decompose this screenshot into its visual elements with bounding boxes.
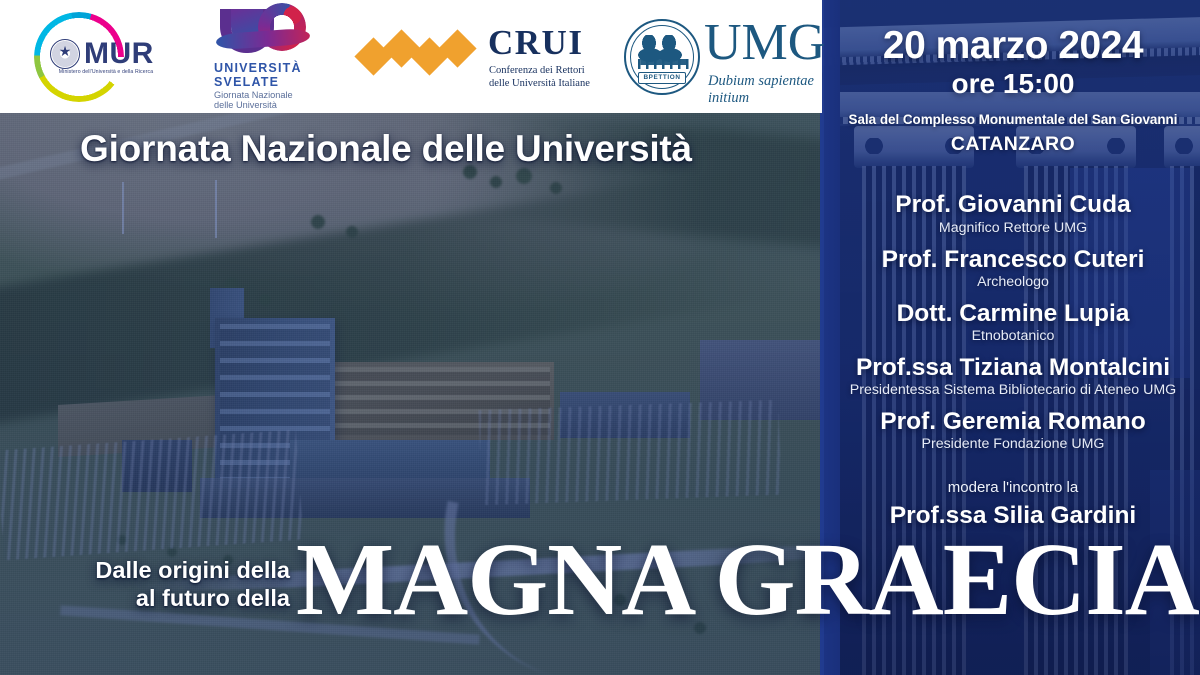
us-monogram-icon — [214, 5, 314, 57]
crui-diamonds-icon — [358, 31, 482, 75]
feature-title: MAGNA GRAECIA — [296, 528, 1199, 632]
us-line1: UNIVERSITÀ — [214, 61, 302, 75]
speaker-name: Prof.ssa Tiziana Montalcini — [842, 353, 1184, 382]
speaker-item: Prof. Giovanni Cuda Magnifico Rettore UM… — [842, 190, 1184, 236]
italian-republic-emblem-icon — [50, 39, 80, 69]
kicker-line-1: Dalle origini della — [22, 557, 290, 585]
speaker-name: Prof. Giovanni Cuda — [842, 190, 1184, 219]
page-title: Giornata Nazionale delle Università — [80, 128, 692, 170]
crui-subtitle-line1: Conferenza dei Rettori — [489, 65, 585, 76]
kicker-line-2: al futuro della — [22, 585, 290, 613]
speakers-list: Prof. Giovanni Cuda Magnifico Rettore UM… — [842, 190, 1184, 453]
moderator-intro: modera l'incontro la — [842, 479, 1184, 496]
us-line2: SVELATE — [214, 75, 279, 89]
logo-header-band: MUR Ministero dell'Università e della Ri… — [0, 0, 822, 113]
umg-seal-text: BPETTION — [638, 72, 686, 84]
speaker-role: Presidente Fondazione UMG — [842, 436, 1184, 453]
event-city: CATANZARO — [842, 133, 1184, 156]
speaker-item: Prof.ssa Tiziana Montalcini Presidentess… — [842, 353, 1184, 399]
speaker-role: Etnobotanico — [842, 328, 1184, 345]
mur-subtitle: Ministero dell'Università e della Ricerc… — [44, 69, 168, 75]
us-line3: Giornata Nazionale — [214, 90, 293, 100]
event-date: 20 marzo 2024 — [842, 26, 1184, 66]
mur-logo: MUR Ministero dell'Università e della Ri… — [22, 9, 172, 105]
speaker-name: Prof. Francesco Cuteri — [842, 245, 1184, 274]
crui-subtitle-line2: delle Università Italiane — [489, 78, 590, 89]
us-line4: delle Università — [214, 100, 277, 110]
umg-acronym: UMG — [704, 17, 825, 69]
speaker-item: Prof. Francesco Cuteri Archeologo — [842, 245, 1184, 291]
speaker-item: Dott. Carmine Lupia Etnobotanico — [842, 299, 1184, 345]
speaker-role: Presidentessa Sistema Bibliotecario di A… — [842, 382, 1184, 399]
event-venue: Sala del Complesso Monumentale del San G… — [842, 112, 1184, 128]
umg-motto: Dubium sapientae initium — [708, 73, 834, 107]
crui-logo: CRUI Conferenza dei Rettori delle Univer… — [358, 17, 590, 97]
crui-acronym: CRUI — [488, 23, 583, 63]
mur-acronym: MUR — [84, 37, 154, 71]
umg-logo: BPETTION UMG Dubium sapientae initium — [624, 15, 834, 99]
event-poster: MUR Ministero dell'Università e della Ri… — [0, 0, 1200, 675]
speaker-role: Archeologo — [842, 274, 1184, 291]
subtitle-kicker: Dalle origini della al futuro della — [22, 557, 290, 612]
umg-dioscuri-horsemen-icon — [636, 35, 692, 69]
speaker-role: Magnifico Rettore UMG — [842, 220, 1184, 237]
speaker-name: Dott. Carmine Lupia — [842, 299, 1184, 328]
speaker-name: Prof. Geremia Romano — [842, 407, 1184, 436]
universita-svelate-logo: UNIVERSITÀ SVELATE Giornata Nazionale de… — [200, 5, 328, 109]
event-time: ore 15:00 — [842, 68, 1184, 100]
speaker-item: Prof. Geremia Romano Presidente Fondazio… — [842, 407, 1184, 453]
umg-seal-icon: BPETTION — [624, 19, 700, 95]
